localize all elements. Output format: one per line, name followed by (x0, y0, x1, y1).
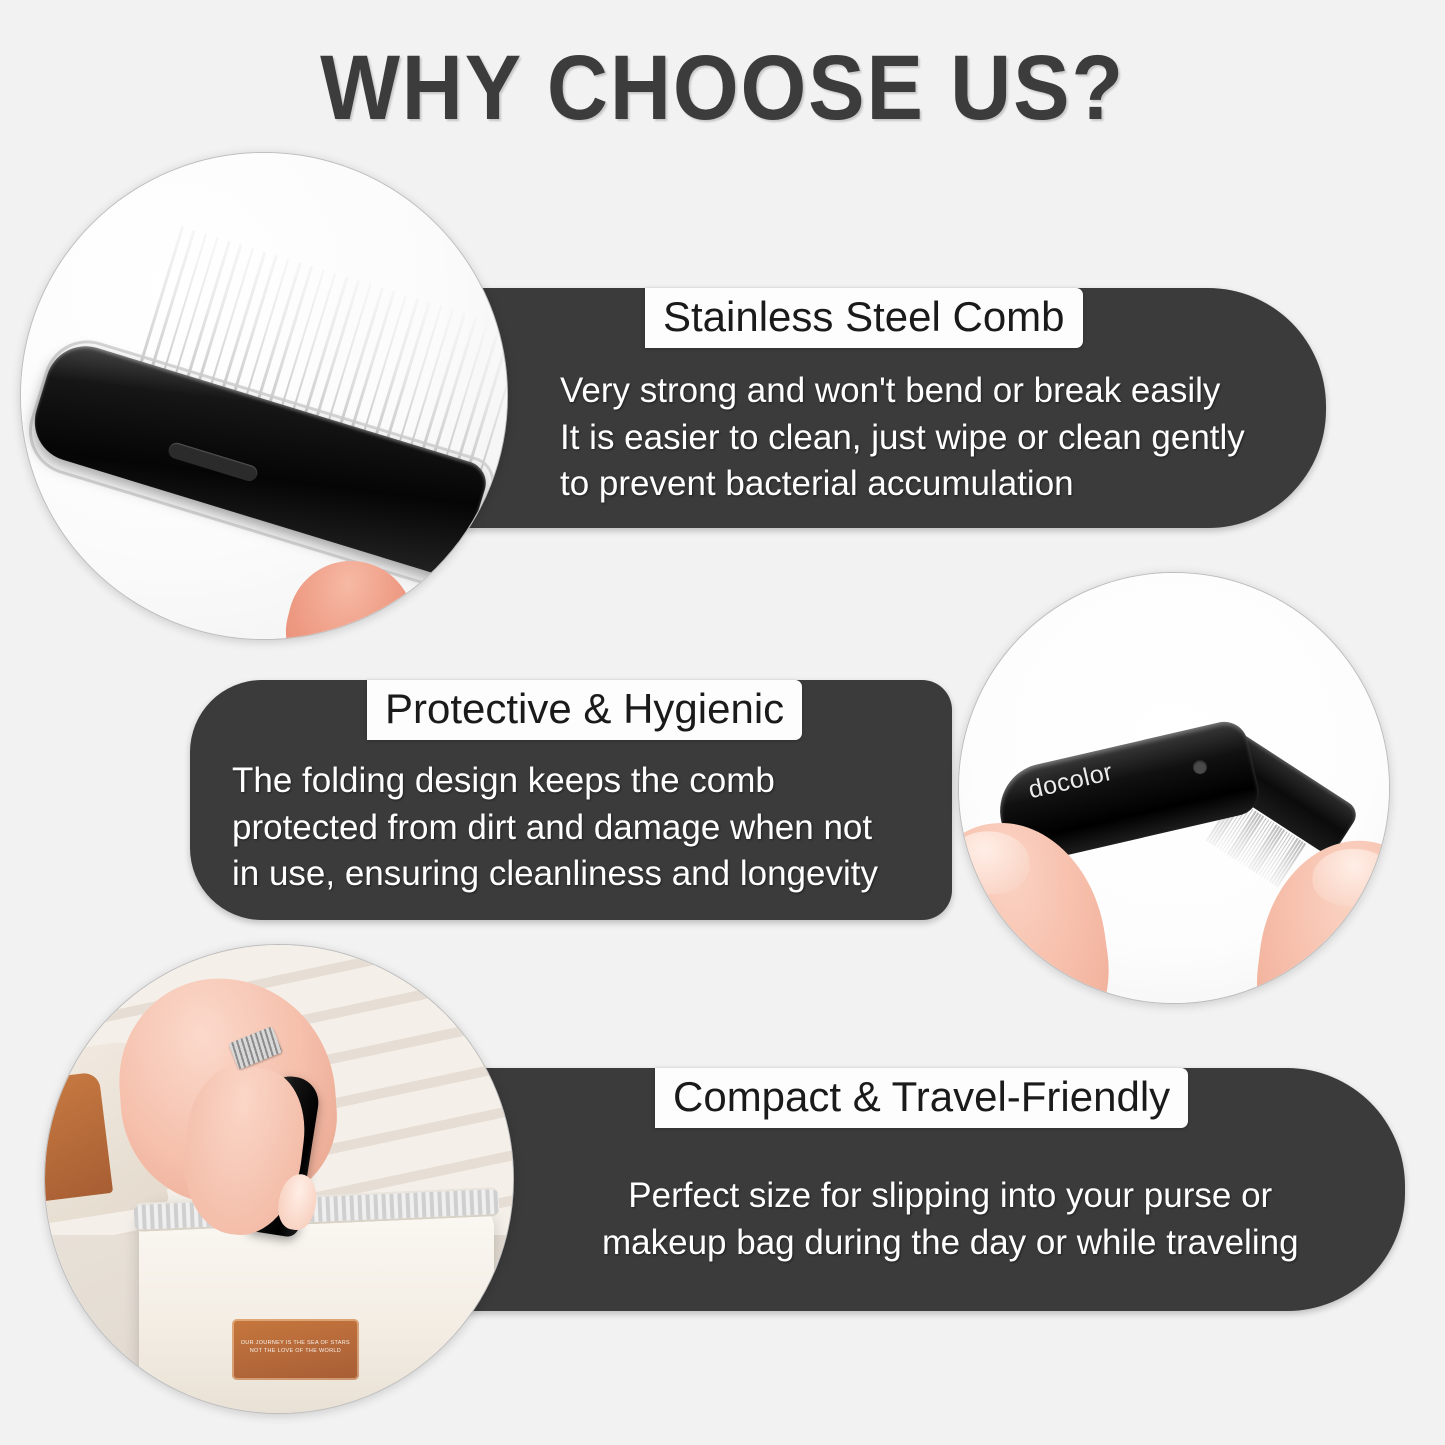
feature-body-2: The folding design keeps the comb protec… (232, 758, 878, 898)
feature-photo-2: docolor (958, 572, 1390, 1004)
infographic-canvas: WHY CHOOSE US? Very strong and won't ben… (0, 0, 1445, 1445)
pouch-tag-text: OUR JOURNEY IS THE SEA OF STARS NOT THE … (232, 1339, 358, 1356)
photo2-comb-hinge (1193, 760, 1207, 774)
photo3-cosmetic-bag (139, 1202, 495, 1414)
feature-body-1: Very strong and won't bend or break easi… (560, 368, 1245, 508)
feature-photo-1 (20, 152, 508, 640)
feature-photo-3: OUR JOURNEY IS THE SEA OF STARS NOT THE … (44, 944, 514, 1414)
photo2-left-thumbnail (958, 832, 1030, 895)
feature-label-1: Stainless Steel Comb (645, 288, 1083, 348)
page-title: WHY CHOOSE US? (58, 36, 1387, 141)
photo2-right-thumbnail (1312, 848, 1390, 907)
photo3-leather-tag: OUR JOURNEY IS THE SEA OF STARS NOT THE … (232, 1319, 358, 1380)
feature-body-3: Perfect size for slipping into your purs… (602, 1173, 1299, 1266)
feature-label-2: Protective & Hygienic (367, 680, 802, 740)
feature-label-3: Compact & Travel-Friendly (655, 1068, 1188, 1128)
